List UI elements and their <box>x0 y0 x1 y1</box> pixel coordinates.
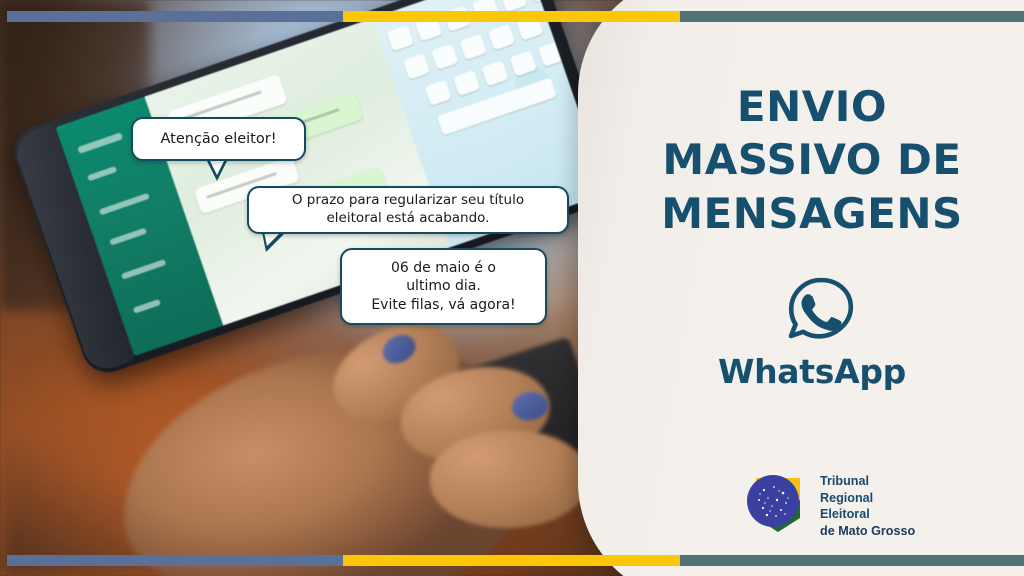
bar-segment-blue <box>7 555 343 566</box>
speech-bubble-text: O prazo para regularizar seu título elei… <box>284 192 532 227</box>
org-line-4: de Mato Grosso <box>820 523 915 540</box>
bottom-accent-bar <box>7 555 1024 566</box>
bubble-tail <box>262 232 286 252</box>
bar-segment-green <box>680 555 1024 566</box>
org-line-2: Regional <box>820 490 915 507</box>
whatsapp-icon <box>788 277 854 339</box>
brazil-flag-emblem-icon <box>740 470 814 540</box>
bar-segment-yellow <box>343 555 680 566</box>
page-title: ENVIO MASSIVO DE MENSAGENS <box>612 80 1012 240</box>
bar-segment-yellow <box>343 11 680 22</box>
speech-bubble-text: 06 de maio é o ultimo dia. Evite filas, … <box>363 259 523 314</box>
headline-line-2: MASSIVO DE <box>612 133 1012 186</box>
bar-segment-green <box>680 11 1024 22</box>
speech-bubble-text: Atenção eleitor! <box>152 130 284 149</box>
headline-line-3: MENSAGENS <box>612 187 1012 240</box>
speech-bubble-attention: Atenção eleitor! <box>131 117 306 161</box>
org-line-1: Tribunal <box>820 473 915 490</box>
top-accent-bar <box>7 11 1024 22</box>
poster-canvas: ENVIO MASSIVO DE MENSAGENS WhatsApp <box>0 0 1024 576</box>
speech-bubble-last-day: 06 de maio é o ultimo dia. Evite filas, … <box>340 248 547 325</box>
speech-bubble-deadline: O prazo para regularizar seu título elei… <box>247 186 569 234</box>
bubble-tail <box>206 159 228 181</box>
bar-segment-blue <box>7 11 343 22</box>
whatsapp-label: WhatsApp <box>612 352 1012 391</box>
org-line-3: Eleitoral <box>820 506 915 523</box>
organization-name: Tribunal Regional Eleitoral de Mato Gros… <box>820 473 915 539</box>
headline-line-1: ENVIO <box>612 80 1012 133</box>
tre-mt-logo: Tribunal Regional Eleitoral de Mato Gros… <box>740 470 920 542</box>
